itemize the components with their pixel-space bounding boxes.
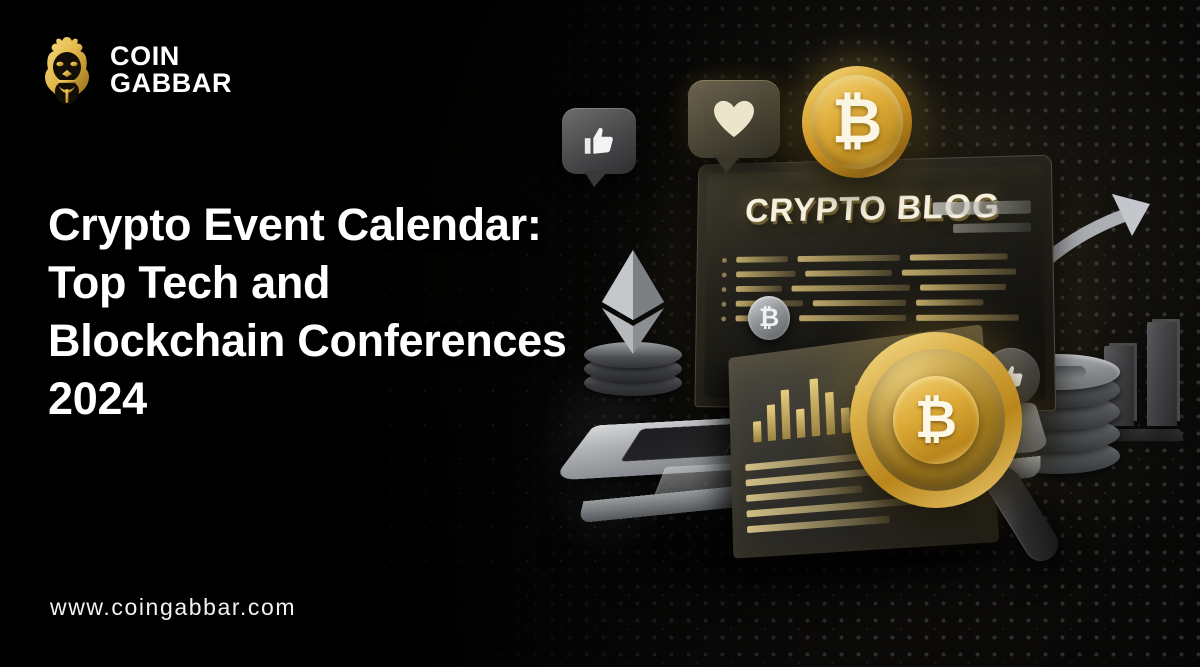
bitcoin-coin-small: ₿	[748, 296, 790, 340]
screen-chip-2	[953, 223, 1031, 233]
heart-bubble[interactable]	[688, 80, 780, 158]
headline-line-1: Crypto Event Calendar:	[48, 196, 608, 254]
lion-head-icon	[38, 34, 96, 106]
ethereum-icon	[602, 250, 664, 354]
headline-line-4: 2024	[48, 370, 608, 428]
card-bar-chart	[752, 369, 866, 443]
brand-name-line1: COIN	[110, 43, 232, 70]
brand-logo[interactable]: COIN GABBAR	[38, 34, 232, 106]
bitcoin-coin-magnified: ₿	[893, 376, 979, 464]
heart-icon	[712, 99, 756, 139]
brand-wordmark: COIN GABBAR	[110, 43, 232, 96]
magnifying-glass: ₿	[850, 332, 1028, 567]
brand-name-line2: GABBAR	[110, 70, 232, 97]
headline-line-3: Blockchain Conferences	[48, 312, 608, 370]
bitcoin-coin-large: ₿	[802, 66, 912, 178]
coin-face: ₿	[811, 75, 903, 169]
website-url[interactable]: www.coingabbar.com	[50, 594, 296, 621]
page-title: Crypto Event Calendar: Top Tech and Bloc…	[48, 196, 608, 428]
like-bubble[interactable]	[562, 108, 636, 174]
thumbs-up-icon	[582, 124, 616, 158]
bitcoin-symbol: ₿	[915, 394, 957, 446]
promo-banner: COIN GABBAR Crypto Event Calendar: Top T…	[0, 0, 1200, 667]
screen-chip-1	[933, 200, 1031, 215]
headline-line-2: Top Tech and	[48, 254, 608, 312]
magnifier-lens: ₿	[867, 349, 1005, 491]
hero-illustration: CRYPTO BLOG	[520, 60, 1200, 600]
bitcoin-symbol: ₿	[832, 91, 883, 153]
